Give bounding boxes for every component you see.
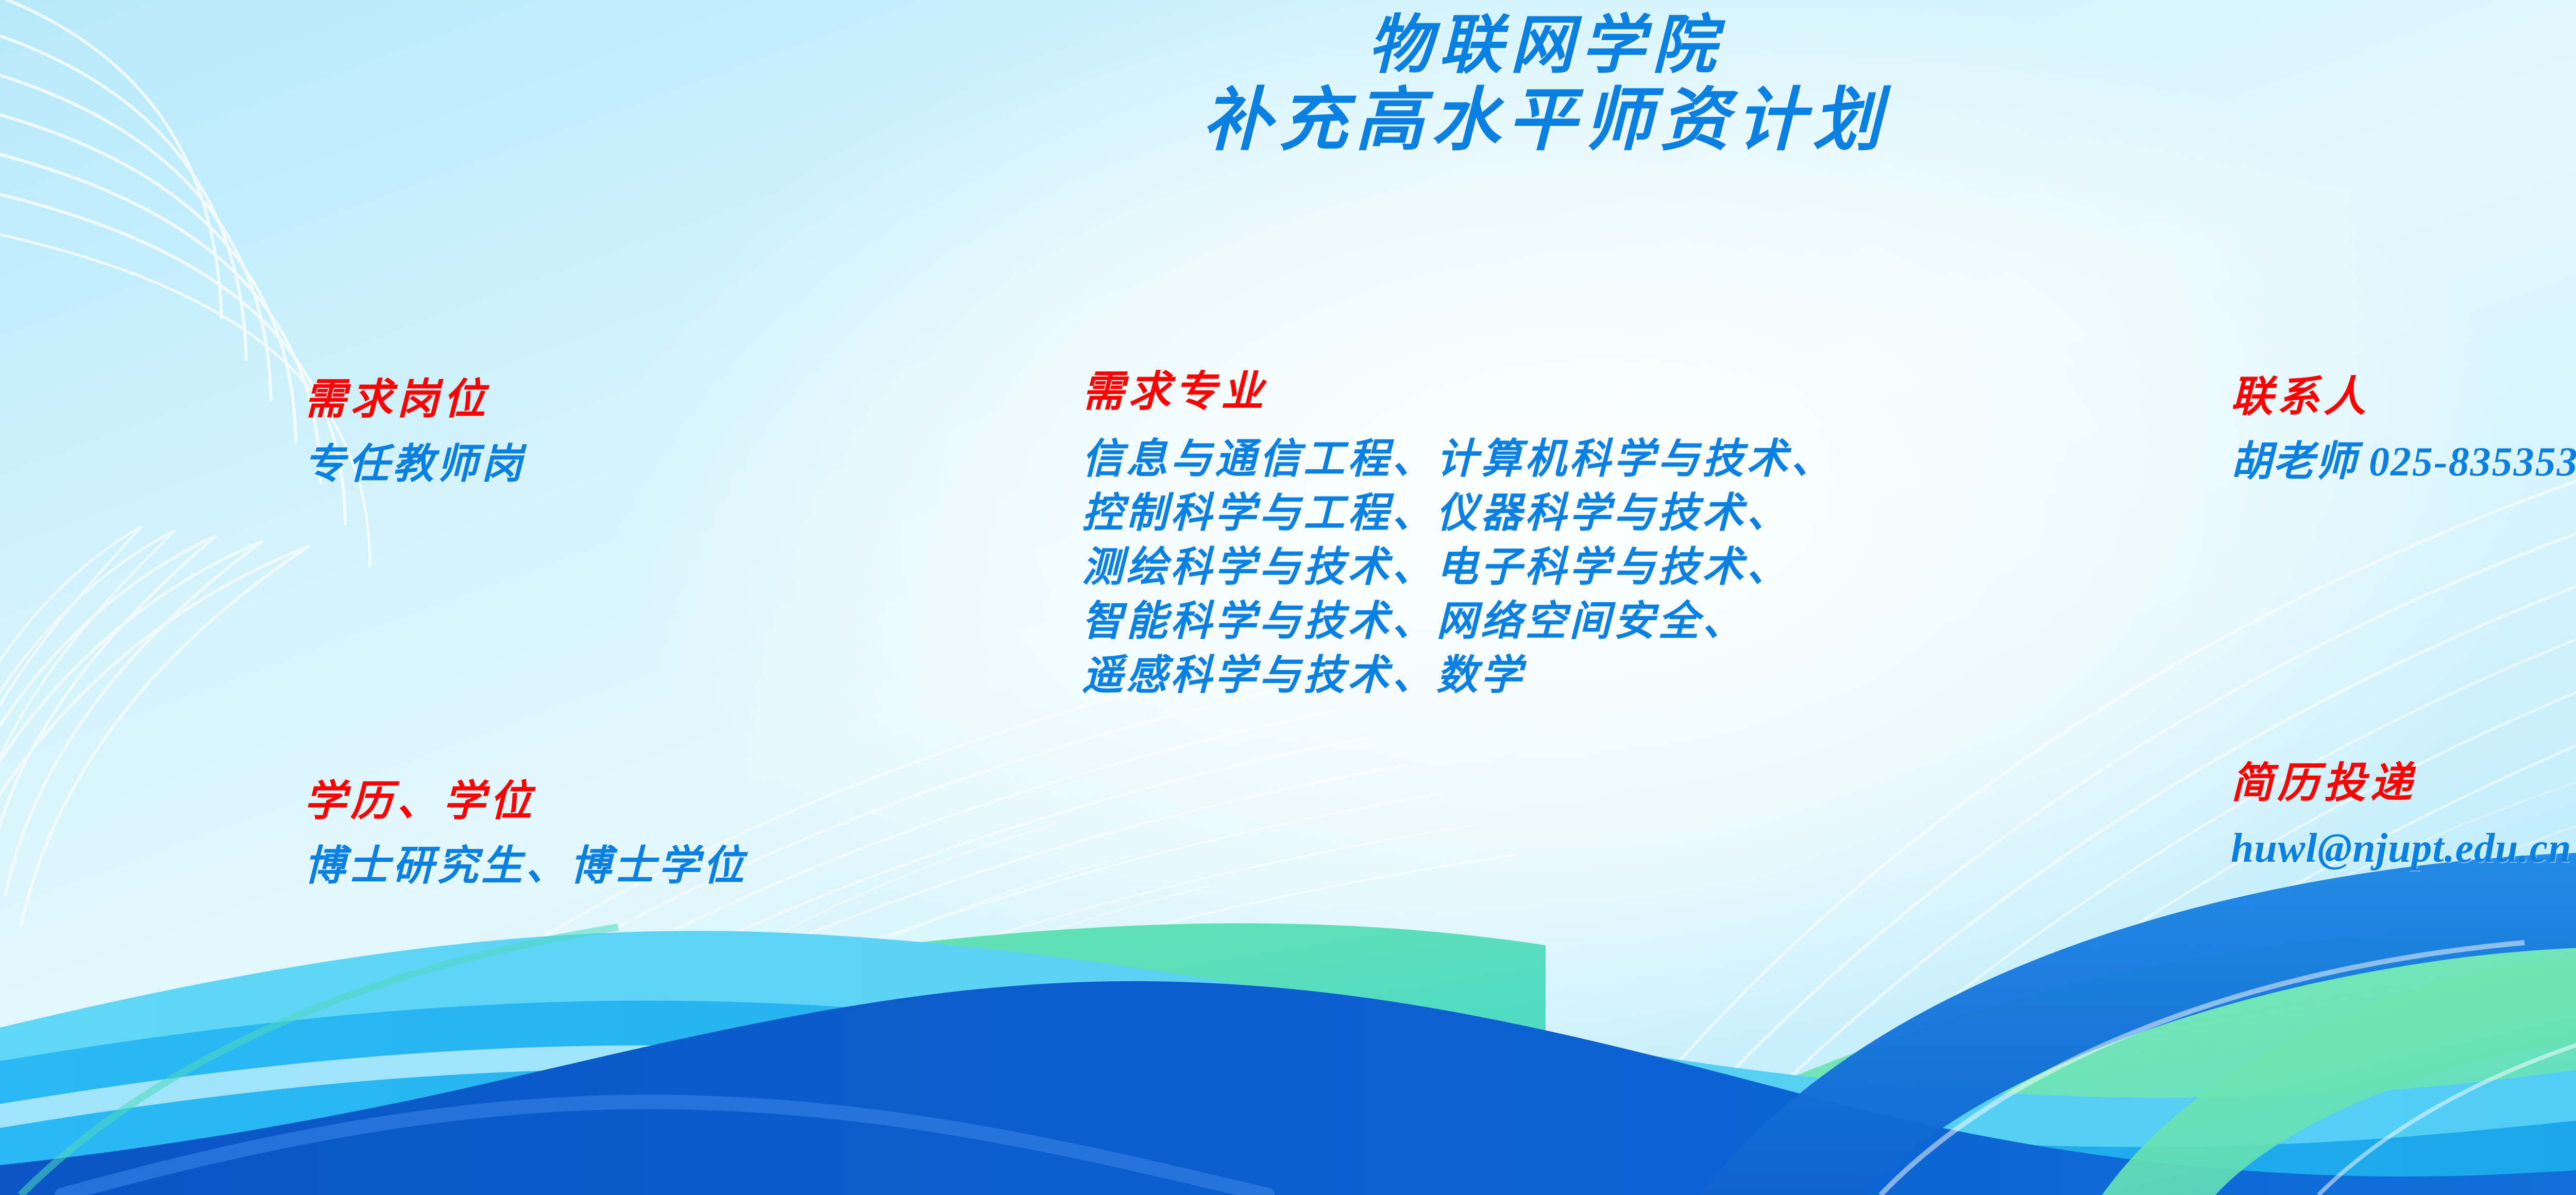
- poster-title: 物联网学院 补充高水平师资计划: [0, 10, 2576, 159]
- position-value: 专任教师岗: [304, 444, 526, 485]
- title-line-1: 物联网学院: [0, 10, 2576, 82]
- recruitment-poster: 物联网学院 补充高水平师资计划 需求岗位 专任教师岗 学历、学位 博士研究生、博…: [0, 0, 2576, 1195]
- degree-heading: 学历、学位: [304, 780, 747, 823]
- major-heading: 需求专业: [1082, 371, 1835, 413]
- column-position: 需求岗位 专任教师岗: [304, 379, 526, 485]
- degree-value: 博士研究生、博士学位: [304, 846, 747, 887]
- major-line: 测绘科学与技术、电子科学与技术、: [1082, 547, 1835, 588]
- column-major: 需求专业 信息与通信工程、计算机科学与技术、 控制科学与工程、仪器科学与技术、 …: [1082, 371, 1835, 696]
- column-contact: 联系人 胡老师 025-83535328: [2231, 376, 2576, 483]
- poster-content: 物联网学院 补充高水平师资计划 需求岗位 专任教师岗 学历、学位 博士研究生、博…: [0, 0, 2576, 1195]
- column-degree: 学历、学位 博士研究生、博士学位: [304, 780, 747, 887]
- title-line-2: 补充高水平师资计划: [0, 82, 2576, 159]
- contact-heading: 联系人: [2231, 376, 2576, 418]
- resume-email: huwl@njupt.edu.cn: [2231, 828, 2572, 869]
- resume-heading: 简历投递: [2231, 762, 2572, 805]
- major-list: 信息与通信工程、计算机科学与技术、 控制科学与工程、仪器科学与技术、 测绘科学与…: [1082, 439, 1835, 696]
- column-resume: 简历投递 huwl@njupt.edu.cn: [2231, 762, 2572, 869]
- major-line: 遥感科学与技术、数学: [1082, 655, 1835, 696]
- major-line: 智能科学与技术、网络空间安全、: [1082, 601, 1835, 642]
- contact-value: 胡老师 025-83535328: [2231, 441, 2576, 483]
- major-line: 信息与通信工程、计算机科学与技术、: [1082, 439, 1835, 480]
- major-line: 控制科学与工程、仪器科学与技术、: [1082, 493, 1835, 534]
- position-heading: 需求岗位: [304, 379, 526, 421]
